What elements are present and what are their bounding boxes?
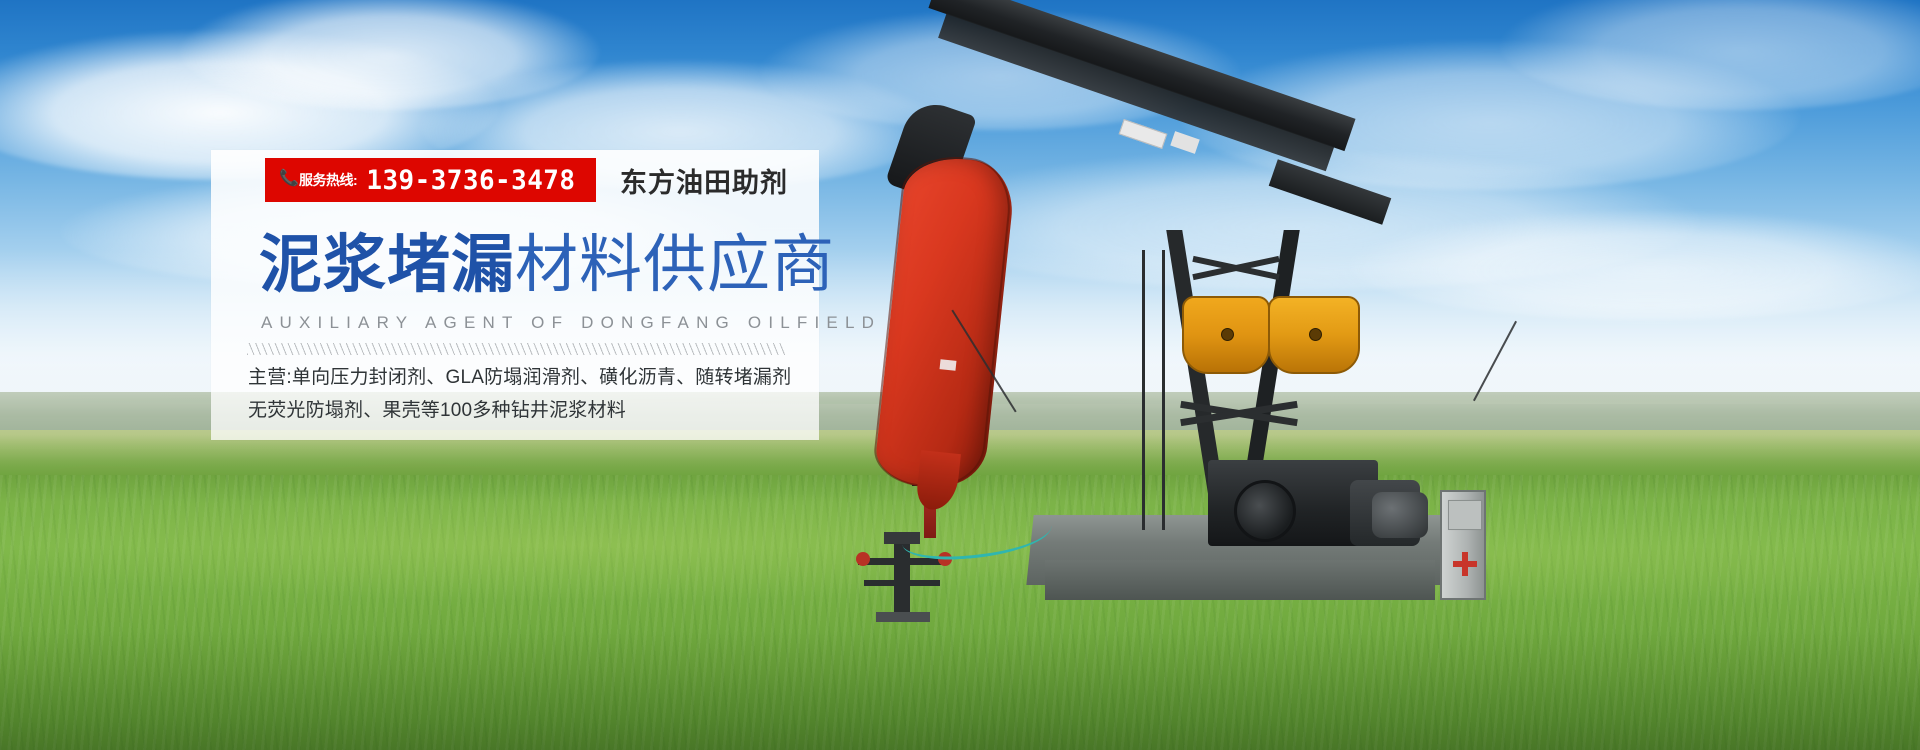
walking-beam-tail <box>1269 159 1392 225</box>
company-name: 东方油田助剂 <box>620 161 788 200</box>
counterweight-bolt <box>1221 328 1234 341</box>
counterweight-left <box>1182 296 1270 374</box>
guard-placard <box>940 359 957 371</box>
grass-shadow <box>0 630 1920 750</box>
oil-pumpjack-icon <box>1020 60 1580 690</box>
ladder-icon <box>1140 250 1166 530</box>
gear-wheel <box>1234 480 1296 542</box>
hotline-label: 服务热线: <box>299 170 357 190</box>
beam-placard-small <box>1170 131 1199 154</box>
page-title: 泥浆堵漏材料供应商 <box>259 232 835 298</box>
guy-wire <box>1473 321 1517 401</box>
first-aid-cross-icon <box>1453 561 1477 567</box>
counterweight-bolt <box>1309 328 1322 341</box>
phone-icon: 📞 <box>279 171 296 188</box>
counterweight-right <box>1268 296 1360 374</box>
hotline-row: 📞 服务热线: 139-3736-3478 东方油田助剂 <box>211 150 819 210</box>
headline-rest: 材料供应商 <box>515 230 835 300</box>
hotline-number: 139-3736-3478 <box>367 165 576 196</box>
product-description: 主营:单向压力封闭剂、GLA防塌润滑剂、磺化沥青、随转堵漏剂 无荧光防塌剂、果壳… <box>248 362 808 427</box>
hotline-badge[interactable]: 📞 服务热线: 139-3736-3478 <box>265 158 596 202</box>
hero-text-panel: 📞 服务热线: 139-3736-3478 东方油田助剂 泥浆堵漏材料供应商 A… <box>211 150 819 440</box>
hatched-divider <box>247 343 785 355</box>
valve-handwheel <box>856 552 870 566</box>
hero-banner: 📞 服务热线: 139-3736-3478 东方油田助剂 泥浆堵漏材料供应商 A… <box>0 0 1920 750</box>
headline-emphasis: 泥浆堵漏 <box>259 230 515 300</box>
control-cabinet <box>1440 490 1486 600</box>
english-subtitle: AUXILIARY AGENT OF DONGFANG OILFIELD <box>261 313 881 333</box>
beam-placard <box>1119 119 1168 149</box>
description-line-1: 主营:单向压力封闭剂、GLA防塌润滑剂、磺化沥青、随转堵漏剂 <box>248 362 808 395</box>
description-line-2: 无荧光防塌剂、果壳等100多种钻井泥浆材料 <box>248 395 808 428</box>
